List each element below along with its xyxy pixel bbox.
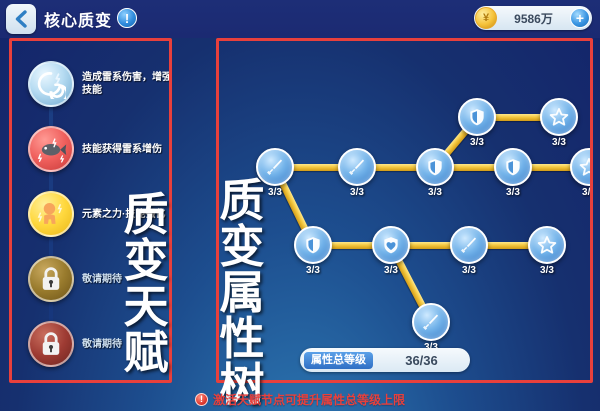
tree-node-n1[interactable] [458,98,496,136]
talent-item-4[interactable]: 敬请期待 [9,251,172,307]
sword-icon [265,157,285,177]
talent-item-label: 技能获得雷系增伤 [82,143,162,156]
tree-node-n7[interactable] [570,148,593,186]
back-button[interactable] [6,4,36,34]
page-title: 核心质变 [44,7,112,31]
talent-item-5[interactable]: 敬请期待 [9,316,172,372]
footer-hint: ! 激活天赋节点可提升属性总等级上限 [0,388,600,411]
talent-item-label: 敬请期待 [82,338,122,351]
footer-hint-text: 激活天赋节点可提升属性总等级上限 [213,391,405,408]
sword-icon [421,312,441,332]
tree-node-level: 3/3 [490,187,536,198]
chevron-left-icon [13,10,29,28]
tree-node-n5[interactable] [416,148,454,186]
spiral-thunder-icon [28,61,74,107]
shield-icon [503,157,523,177]
talent-item-label: 元素之力·技能强化 [82,208,165,221]
tree-node-level: 3/3 [290,265,336,276]
tree-node-level: 3/3 [566,187,593,198]
tree-node-n9[interactable] [372,226,410,264]
sword-icon [347,157,367,177]
attribute-tree-panel: 3/3 3/3 3/3 3/3 3/3 3/3 3/3 3/3 [216,38,593,383]
heart-icon [381,235,401,255]
talent-item-1[interactable]: 造成雷系伤害，增强技能 [9,56,172,112]
talent-list-panel: 造成雷系伤害，增强技能 技能获得雷系增伤 元素之力·技能强化 敬请期待 [9,38,172,383]
warning-icon: ! [195,393,208,406]
tree-node-n12[interactable] [412,303,450,341]
talent-item-2[interactable]: 技能获得雷系增伤 [9,121,172,177]
shield-icon [303,235,323,255]
talent-item-label: 造成雷系伤害，增强技能 [82,71,172,97]
fish-thunder-icon [28,126,74,172]
total-level-label: 属性总等级 [304,352,373,369]
tree-node-n6[interactable] [494,148,532,186]
tree-node-level: 3/3 [334,187,380,198]
talent-item-label: 敬请期待 [82,273,122,286]
tree-node-level: 3/3 [446,265,492,276]
tree-node-n2[interactable] [540,98,578,136]
star-icon [579,157,593,177]
currency-value: 9586万 [497,10,570,27]
game-screen: 核心质变 ! ¥ 9586万 + 造成雷系伤害，增强技能 技能获得雷系增伤 [0,0,600,411]
total-level-value: 36/36 [373,353,470,368]
tree-node-n10[interactable] [450,226,488,264]
tree-node-n4[interactable] [338,148,376,186]
total-level-bar: 属性总等级 36/36 [300,348,470,372]
lock-icon [28,321,74,367]
tree-node-n8[interactable] [294,226,332,264]
tree-node-level: 3/3 [536,137,582,148]
element-power-icon [28,191,74,237]
tree-node-n11[interactable] [528,226,566,264]
tree-node-level: 3/3 [524,265,570,276]
shield-icon [425,157,445,177]
talent-item-3[interactable]: 元素之力·技能强化 [9,186,172,242]
tree-node-level: 3/3 [368,265,414,276]
currency-display: ¥ 9586万 + [474,6,592,30]
star-icon [537,235,557,255]
sword-icon [459,235,479,255]
info-icon[interactable]: ! [117,8,137,28]
tree-node-level: 3/3 [454,137,500,148]
tree-node-n3[interactable] [256,148,294,186]
star-icon [549,107,569,127]
add-currency-button[interactable]: + [570,8,590,28]
tree-node-level: 3/3 [412,187,458,198]
top-header-bar: 核心质变 ! ¥ 9586万 + [0,0,600,38]
lock-icon [28,256,74,302]
shield-icon [467,107,487,127]
coin-icon: ¥ [475,7,497,29]
tree-node-level: 3/3 [252,187,298,198]
